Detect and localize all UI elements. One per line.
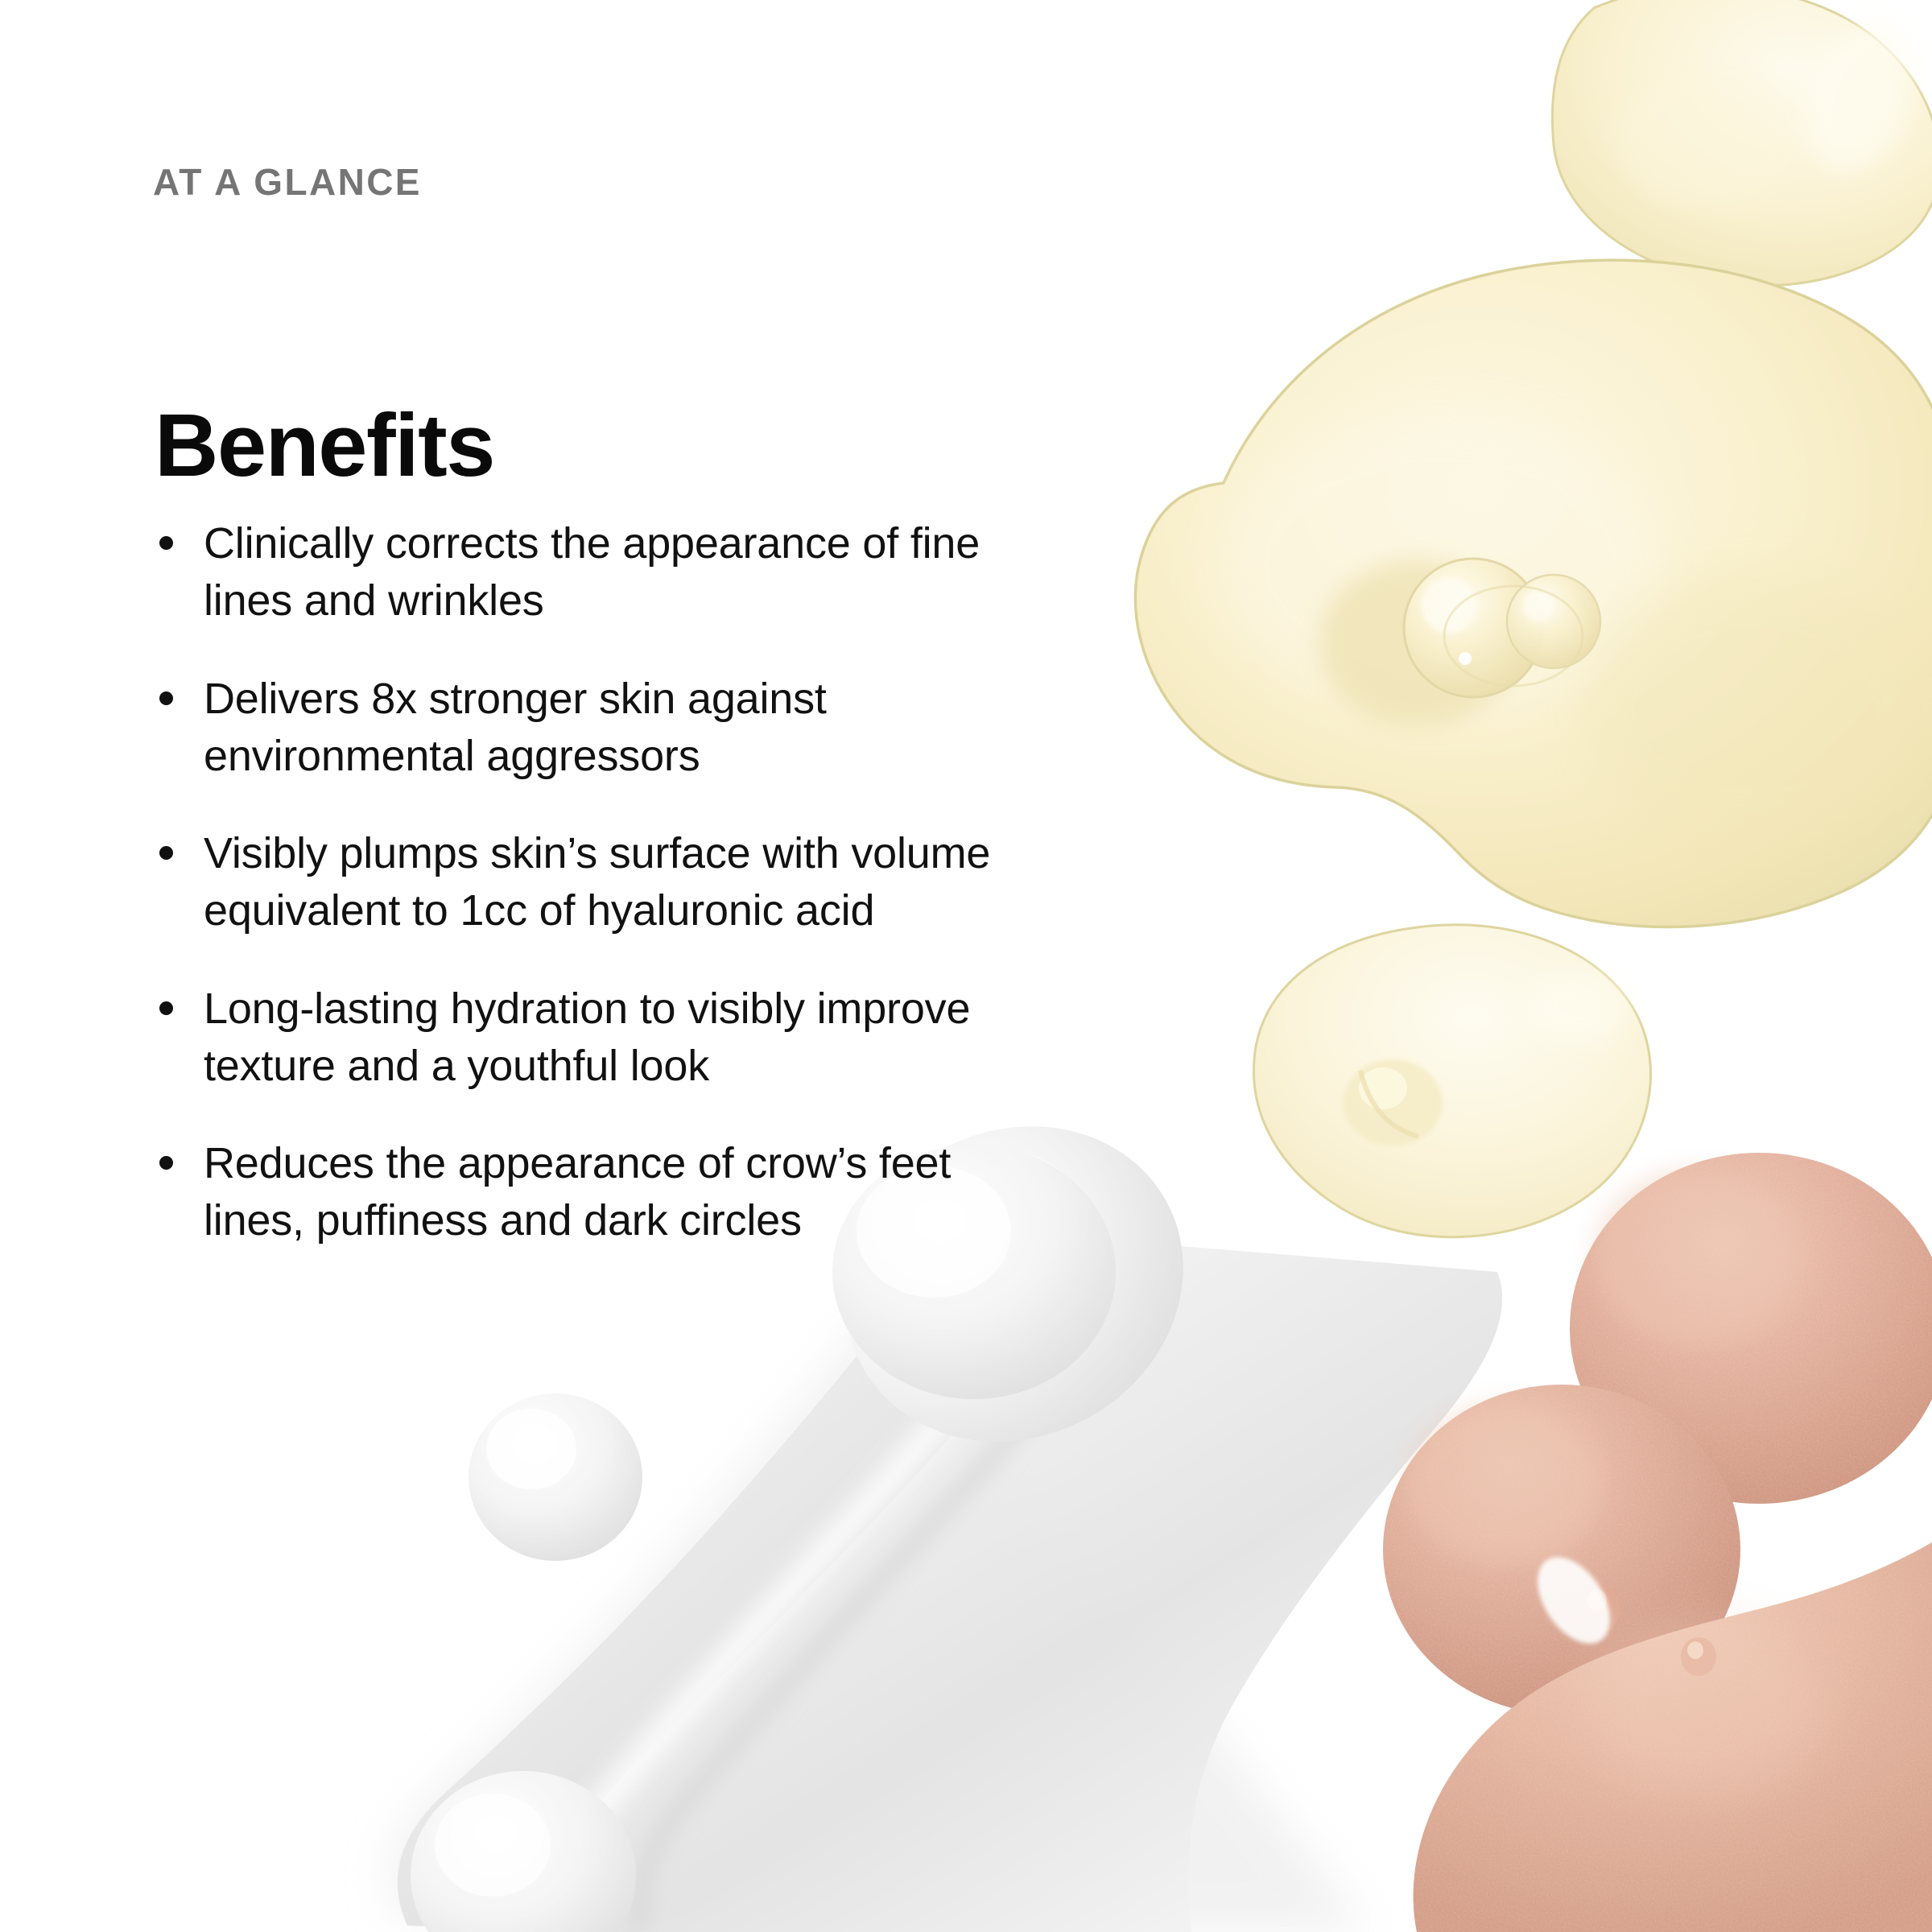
section-eyebrow-label: AT A GLANCE: [153, 163, 422, 200]
cream-dollop-small: [469, 1393, 642, 1561]
benefit-text: Delivers 8x stronger skin against enviro…: [204, 671, 1009, 786]
benefit-text: Clinically corrects the appearance of fi…: [204, 515, 1009, 630]
page-title: Benefits: [155, 402, 494, 490]
list-item: Delivers 8x stronger skin against enviro…: [153, 671, 1119, 786]
benefit-text: Visibly plumps skin’s surface with volum…: [204, 825, 1009, 940]
bullet-dot-icon: [159, 691, 173, 705]
list-item: Visibly plumps skin’s surface with volum…: [153, 825, 1119, 940]
list-item: Reduces the appearance of crow’s feet li…: [153, 1135, 1119, 1250]
specular-glint: [1523, 1544, 1625, 1657]
cream-dollop-bottom: [411, 1771, 636, 1932]
peach-mass-bead: [1681, 1637, 1716, 1676]
benefit-text: Long-lasting hydration to visibly improv…: [204, 980, 1009, 1096]
bullet-dot-icon: [159, 1156, 173, 1170]
bullet-dot-icon: [159, 1001, 173, 1015]
peach-mass-corner: [1414, 1542, 1932, 1932]
benefits-list: Clinically corrects the appearance of fi…: [153, 515, 1119, 1290]
benefit-text: Reduces the appearance of crow’s feet li…: [204, 1135, 1009, 1250]
bullet-dot-icon: [159, 846, 173, 860]
peach-dollop-bump: [1581, 1584, 1620, 1633]
bullet-dot-icon: [159, 536, 173, 550]
list-item: Clinically corrects the appearance of fi…: [153, 515, 1119, 630]
list-item: Long-lasting hydration to visibly improv…: [153, 980, 1119, 1096]
serum-droplet-mid-right: [1254, 925, 1651, 1237]
product-benefits-panel: AT A GLANCE Benefits Clinically corrects…: [0, 0, 1932, 1932]
peach-dollop-upper-highlight: [1594, 1169, 1803, 1343]
peach-dollop-upper: [1570, 1153, 1932, 1504]
peach-dollop-left-highlight: [1407, 1402, 1604, 1563]
serum-droplet-top-right: [1552, 0, 1932, 286]
peach-mass-highlight: [1586, 1618, 1827, 1795]
serum-blob-large: [1135, 260, 1932, 927]
peach-dollop-left: [1383, 1385, 1740, 1715]
